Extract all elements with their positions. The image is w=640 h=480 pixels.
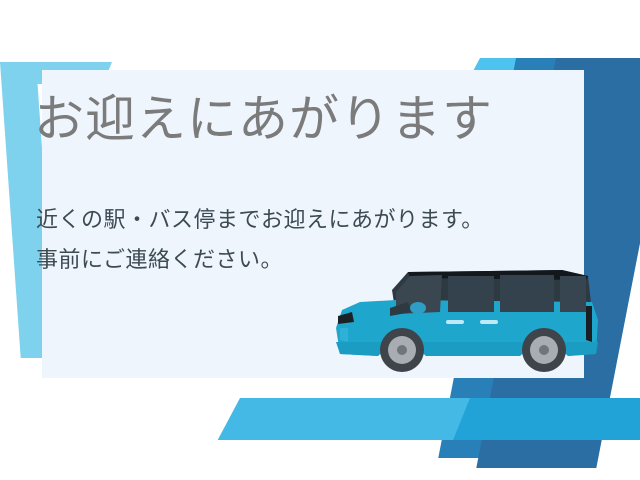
- banner-body-line-1: 近くの駅・バス停までお迎えにあがります。: [36, 205, 484, 235]
- decor-bottom-cyan-dark-shape: [453, 398, 640, 440]
- banner-body-line-2: 事前にご連絡ください。: [36, 245, 283, 275]
- banner-title: お迎えにあがります: [34, 90, 574, 148]
- minivan-illustration: [330, 250, 610, 380]
- promo-banner: お迎えにあがります 近くの駅・バス停までお迎えにあがります。 事前にご連絡くださ…: [0, 0, 640, 480]
- banner-card: お迎えにあがります 近くの駅・バス停までお迎えにあがります。 事前にご連絡くださ…: [42, 70, 584, 378]
